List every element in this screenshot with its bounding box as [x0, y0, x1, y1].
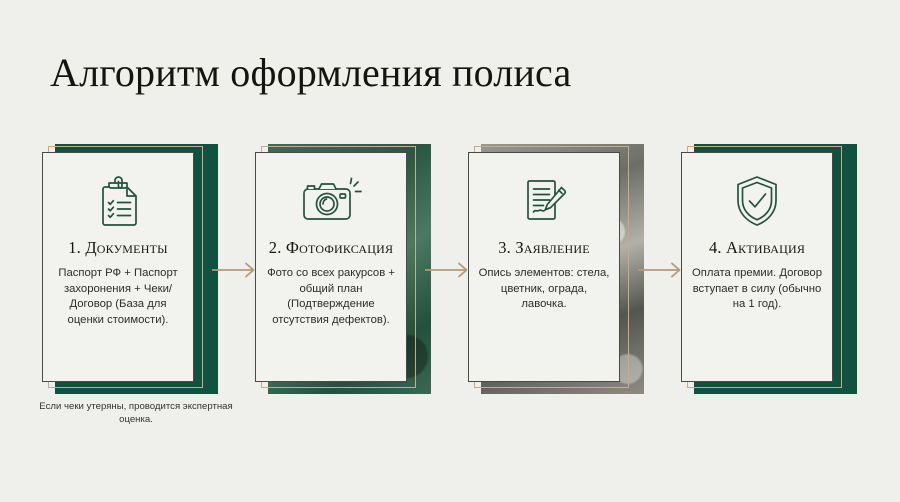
- step-title-1: 1. Документы: [68, 238, 168, 258]
- step-body-4: Оплата премии. Договор вступает в силу (…: [682, 266, 832, 313]
- step-title-4: 4. Активация: [709, 238, 805, 258]
- arrow-3-to-4-icon: [638, 262, 686, 278]
- document-pen-icon: [517, 170, 571, 232]
- footnote-text: Если чеки утеряны, проводится экспертная…: [36, 400, 236, 426]
- step-title-3: 3. Заявление: [498, 238, 590, 258]
- step-body-2: Фото со всех ракурсов + общий план (Подт…: [256, 266, 406, 328]
- step-body-3: Опись элементов: стела, цветник, ограда,…: [469, 266, 619, 313]
- card-inner-4: 4. Активация Оплата премии. Договор всту…: [681, 152, 833, 382]
- card-inner-2: 2. Фотофиксация Фото со всех ракурсов + …: [255, 152, 407, 382]
- arrow-1-to-2-icon: [212, 262, 260, 278]
- camera-icon: [299, 170, 363, 232]
- page-title: Алгоритм оформления полиса: [50, 48, 571, 98]
- step-title-2: 2. Фотофиксация: [269, 238, 393, 258]
- card-inner-3: 3. Заявление Опись элементов: стела, цве…: [468, 152, 620, 382]
- step-body-1: Паспорт РФ + Паспорт захоронения + Чеки/…: [43, 266, 193, 328]
- card-inner-1: 1. Документы Паспорт РФ + Паспорт захоро…: [42, 152, 194, 382]
- arrow-2-to-3-icon: [425, 262, 473, 278]
- slide-canvas: Алгоритм оформления полиса: [0, 0, 900, 502]
- step-card-4[interactable]: 4. Активация Оплата премии. Договор всту…: [681, 140, 846, 392]
- step-card-2[interactable]: 2. Фотофиксация Фото со всех ракурсов + …: [255, 140, 420, 392]
- shield-check-icon: [731, 170, 783, 232]
- step-card-1[interactable]: 1. Документы Паспорт РФ + Паспорт захоро…: [42, 140, 207, 392]
- step-card-3[interactable]: 3. Заявление Опись элементов: стела, цве…: [468, 140, 633, 392]
- clipboard-checklist-icon: [92, 170, 144, 232]
